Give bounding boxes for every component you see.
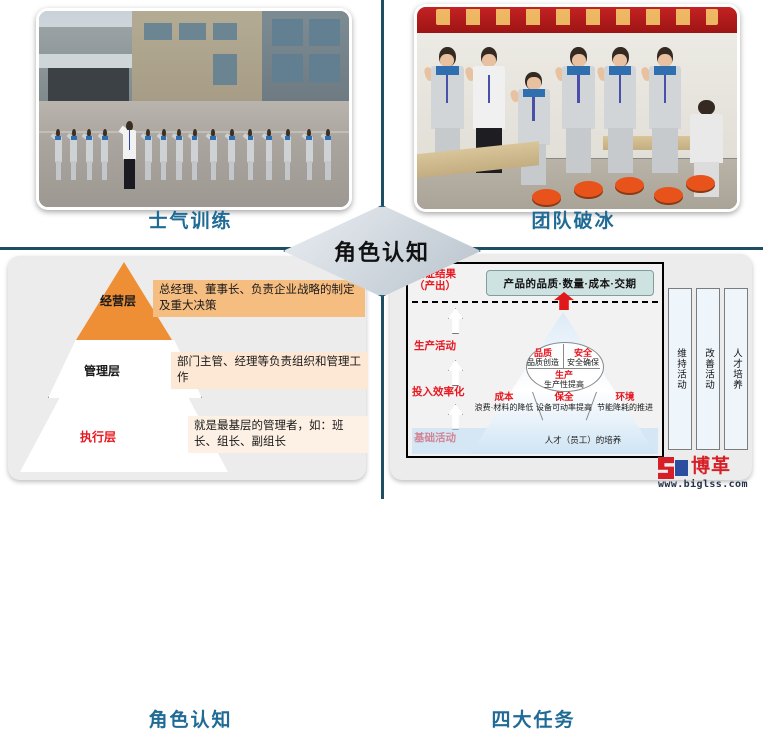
cell-sub: 浪费·材料的降低: [475, 403, 534, 412]
photo-window: [272, 54, 303, 81]
task-cell-quality: 品质 品质创造: [524, 348, 562, 368]
label-production-activity: 生产活动: [414, 340, 456, 352]
logo-brand-text: 博革: [691, 455, 731, 479]
cell-title: 安全: [564, 348, 602, 358]
photo-worker: [228, 129, 235, 180]
logo-mark-icon: [658, 457, 688, 479]
pyramid-label-operation: 执行层: [80, 428, 116, 445]
photo-worker: [175, 129, 182, 180]
morale-training-photo: [36, 8, 352, 210]
photo-stool: [654, 187, 683, 203]
cell-sub: 安全确保: [567, 358, 599, 367]
cell-sub: 设备可动率提高: [536, 403, 592, 412]
photo-canopy: [39, 54, 144, 68]
team-icebreaking-photo: [414, 4, 740, 212]
photo-worker: [265, 129, 272, 180]
photo-window: [213, 54, 238, 85]
photo-worker: [101, 129, 108, 180]
cell-sub: 品质创造: [527, 358, 559, 367]
up-arrow-icon: [448, 404, 463, 430]
photo-stool: [686, 175, 715, 191]
cell-title: 品质: [524, 348, 562, 358]
photo-worker: [55, 129, 62, 180]
photo-worker: [160, 129, 167, 180]
up-arrow-icon: [448, 308, 463, 334]
photo-worker: [70, 129, 77, 180]
photo-banner-text: [436, 9, 718, 25]
photo-loading-bay: [48, 68, 129, 101]
cell-title: 生产: [534, 370, 594, 380]
pyramid-label-executive: 经营层: [100, 292, 136, 309]
task-cell-safety: 安全 安全确保: [564, 348, 602, 368]
cell-title: 成本: [474, 392, 534, 403]
cell-sub: 节能降耗的推进: [597, 403, 653, 412]
photo-window: [272, 19, 303, 46]
logo-url-text: www.biglss.com: [658, 479, 748, 490]
photo-worker: [247, 129, 254, 180]
column-talent-development[interactable]: 人才培养: [724, 288, 748, 450]
photo-worker: [324, 129, 331, 180]
photo-window: [309, 54, 340, 81]
callout-operation: 就是最基层的管理者，如：班长、组长、副组长: [188, 416, 368, 453]
photo-red-banner: [417, 7, 737, 33]
photo-window: [144, 23, 172, 41]
photo-person: [603, 47, 638, 172]
photo-stool: [532, 189, 561, 205]
dashed-separator: [412, 301, 658, 303]
product-output-box: 产品的品质·数量·成本·交期: [486, 270, 654, 296]
task-cell-maintenance: 保全 设备可动率提高: [534, 392, 594, 413]
task-cell-environment: 环境 节能降耗的推进: [594, 392, 656, 413]
photo-worker: [86, 129, 93, 180]
callout-management: 部门主管、经理等负责组织和管理工作: [171, 352, 368, 389]
photo-stool: [574, 181, 603, 197]
brand-logo: 博革 www.biglss.com: [658, 455, 760, 495]
photo-worker: [306, 129, 313, 180]
column-improve-activity[interactable]: 改善活动: [696, 288, 720, 450]
cell-title: 保全: [534, 392, 594, 403]
pyramid-label-management: 管理层: [84, 362, 120, 379]
photo-person: [561, 47, 596, 172]
oval-horizontal-divider: [528, 368, 600, 369]
logo-glyph-icon: [658, 457, 674, 479]
activity-columns: 维持活动 改善活动 人才培养: [668, 288, 748, 450]
photo-person: [647, 47, 682, 172]
photo-worker: [191, 129, 198, 180]
cell-title: 环境: [594, 392, 656, 403]
slide-canvas: 士气训练 团队破冰: [0, 0, 763, 499]
task-base-talent: 人才（员工）的培养: [518, 434, 648, 446]
photo-worker: [284, 129, 291, 180]
photo-window: [179, 23, 207, 41]
photo-worker: [144, 129, 151, 180]
center-diamond[interactable]: 角色认知: [283, 205, 481, 297]
column-maintain-activity[interactable]: 维持活动: [668, 288, 692, 450]
photo-window: [213, 23, 238, 41]
photo-stool: [615, 177, 644, 193]
caption-four-tasks: 四大任务: [344, 705, 723, 732]
photo-person: [516, 72, 551, 185]
photo-worker: [210, 129, 217, 180]
diamond-label: 角色认知: [283, 205, 481, 297]
photo-window: [309, 19, 340, 46]
cell-sub: 生产性提高: [544, 380, 584, 389]
up-arrow-icon: [448, 360, 463, 386]
photo-instructor: [123, 121, 137, 190]
task-cell-cost: 成本 浪费·材料的降低: [474, 392, 534, 413]
logo-square-icon: [675, 460, 688, 476]
caption-role-cognition: 角色认知: [0, 705, 381, 732]
task-cell-production: 生产 生产性提高: [534, 370, 594, 390]
label-input-efficiency: 投入效率化: [412, 386, 465, 398]
